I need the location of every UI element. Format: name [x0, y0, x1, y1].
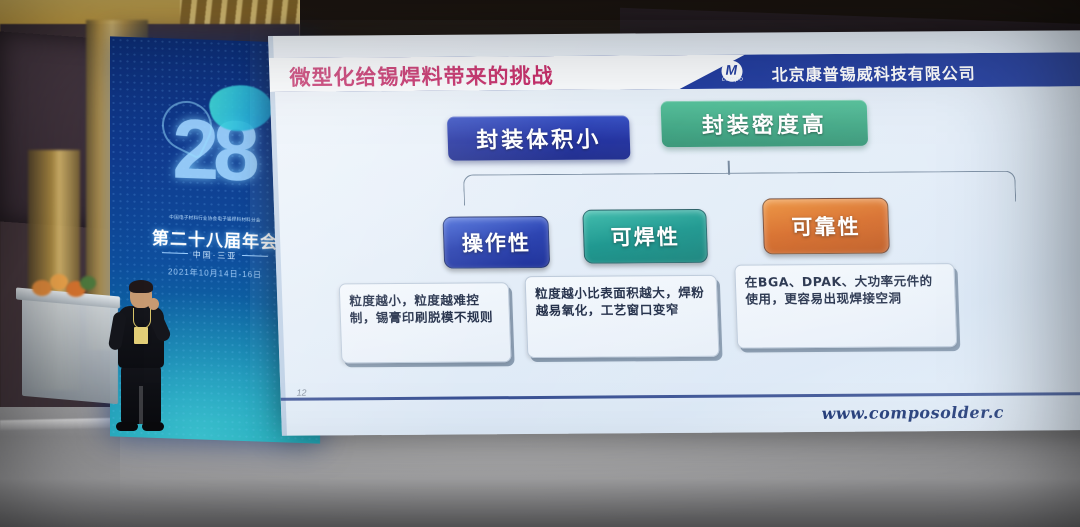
attribute-box-reliability: 可靠性: [762, 198, 890, 255]
flower-arrangement: [30, 272, 100, 304]
speaker-hand: [148, 298, 159, 310]
attribute-box-solderability: 可焊性: [582, 209, 708, 264]
conference-photo-scene: 28 中国电子材料行业协会电子锡焊料材料分会 第二十八届年会 中国·三亚 202…: [0, 0, 1080, 527]
projection-screen: 微型化给锡焊料带来的挑战 M compo 北京康普锡威科技有限公司 封装体积小 …: [268, 30, 1080, 456]
concept-box-package-volume: 封装体积小: [447, 115, 631, 160]
slide-footer-url: www.composolder.c: [821, 403, 1004, 423]
speaker-person: [108, 282, 174, 434]
presentation-slide: 微型化给锡焊料带来的挑战 M compo 北京康普锡威科技有限公司 封装体积小 …: [268, 30, 1080, 436]
slide-footer-rule: [281, 392, 1080, 400]
speaker-badge: [134, 327, 148, 344]
slide-page-number: 12: [296, 388, 306, 398]
concept-box-package-density: 封装密度高: [661, 100, 869, 147]
logo-wordmark: compo: [722, 76, 744, 83]
bracket-connector: [463, 171, 1016, 206]
speaker-hair: [129, 280, 153, 293]
description-reliability: 在BGA、DPAK、大功率元件的使用，更容易出现焊接空洞: [734, 263, 957, 348]
bracket-center-tick: [728, 161, 730, 175]
speaker-leg-gap: [139, 386, 143, 424]
speaker-lanyard: [133, 308, 151, 329]
description-operability: 粒度越小，粒度越难控制，锡膏印刷脱模不规则: [339, 282, 512, 363]
compo-logo-icon: M compo: [721, 61, 764, 83]
speaker-shoe-left: [116, 422, 138, 431]
description-solderability: 粒度越小比表面积越大，焊粉越易氧化，工艺窗口变窄: [525, 275, 720, 358]
slide-header-band: 微型化给锡焊料带来的挑战 M compo 北京康普锡威科技有限公司: [269, 52, 1080, 92]
podium: [22, 296, 118, 404]
speaker-shoe-right: [142, 422, 164, 431]
attribute-box-operability: 操作性: [442, 216, 550, 269]
slide-title: 微型化给锡焊料带来的挑战: [289, 60, 554, 92]
company-name: 北京康普锡威科技有限公司: [771, 60, 976, 85]
